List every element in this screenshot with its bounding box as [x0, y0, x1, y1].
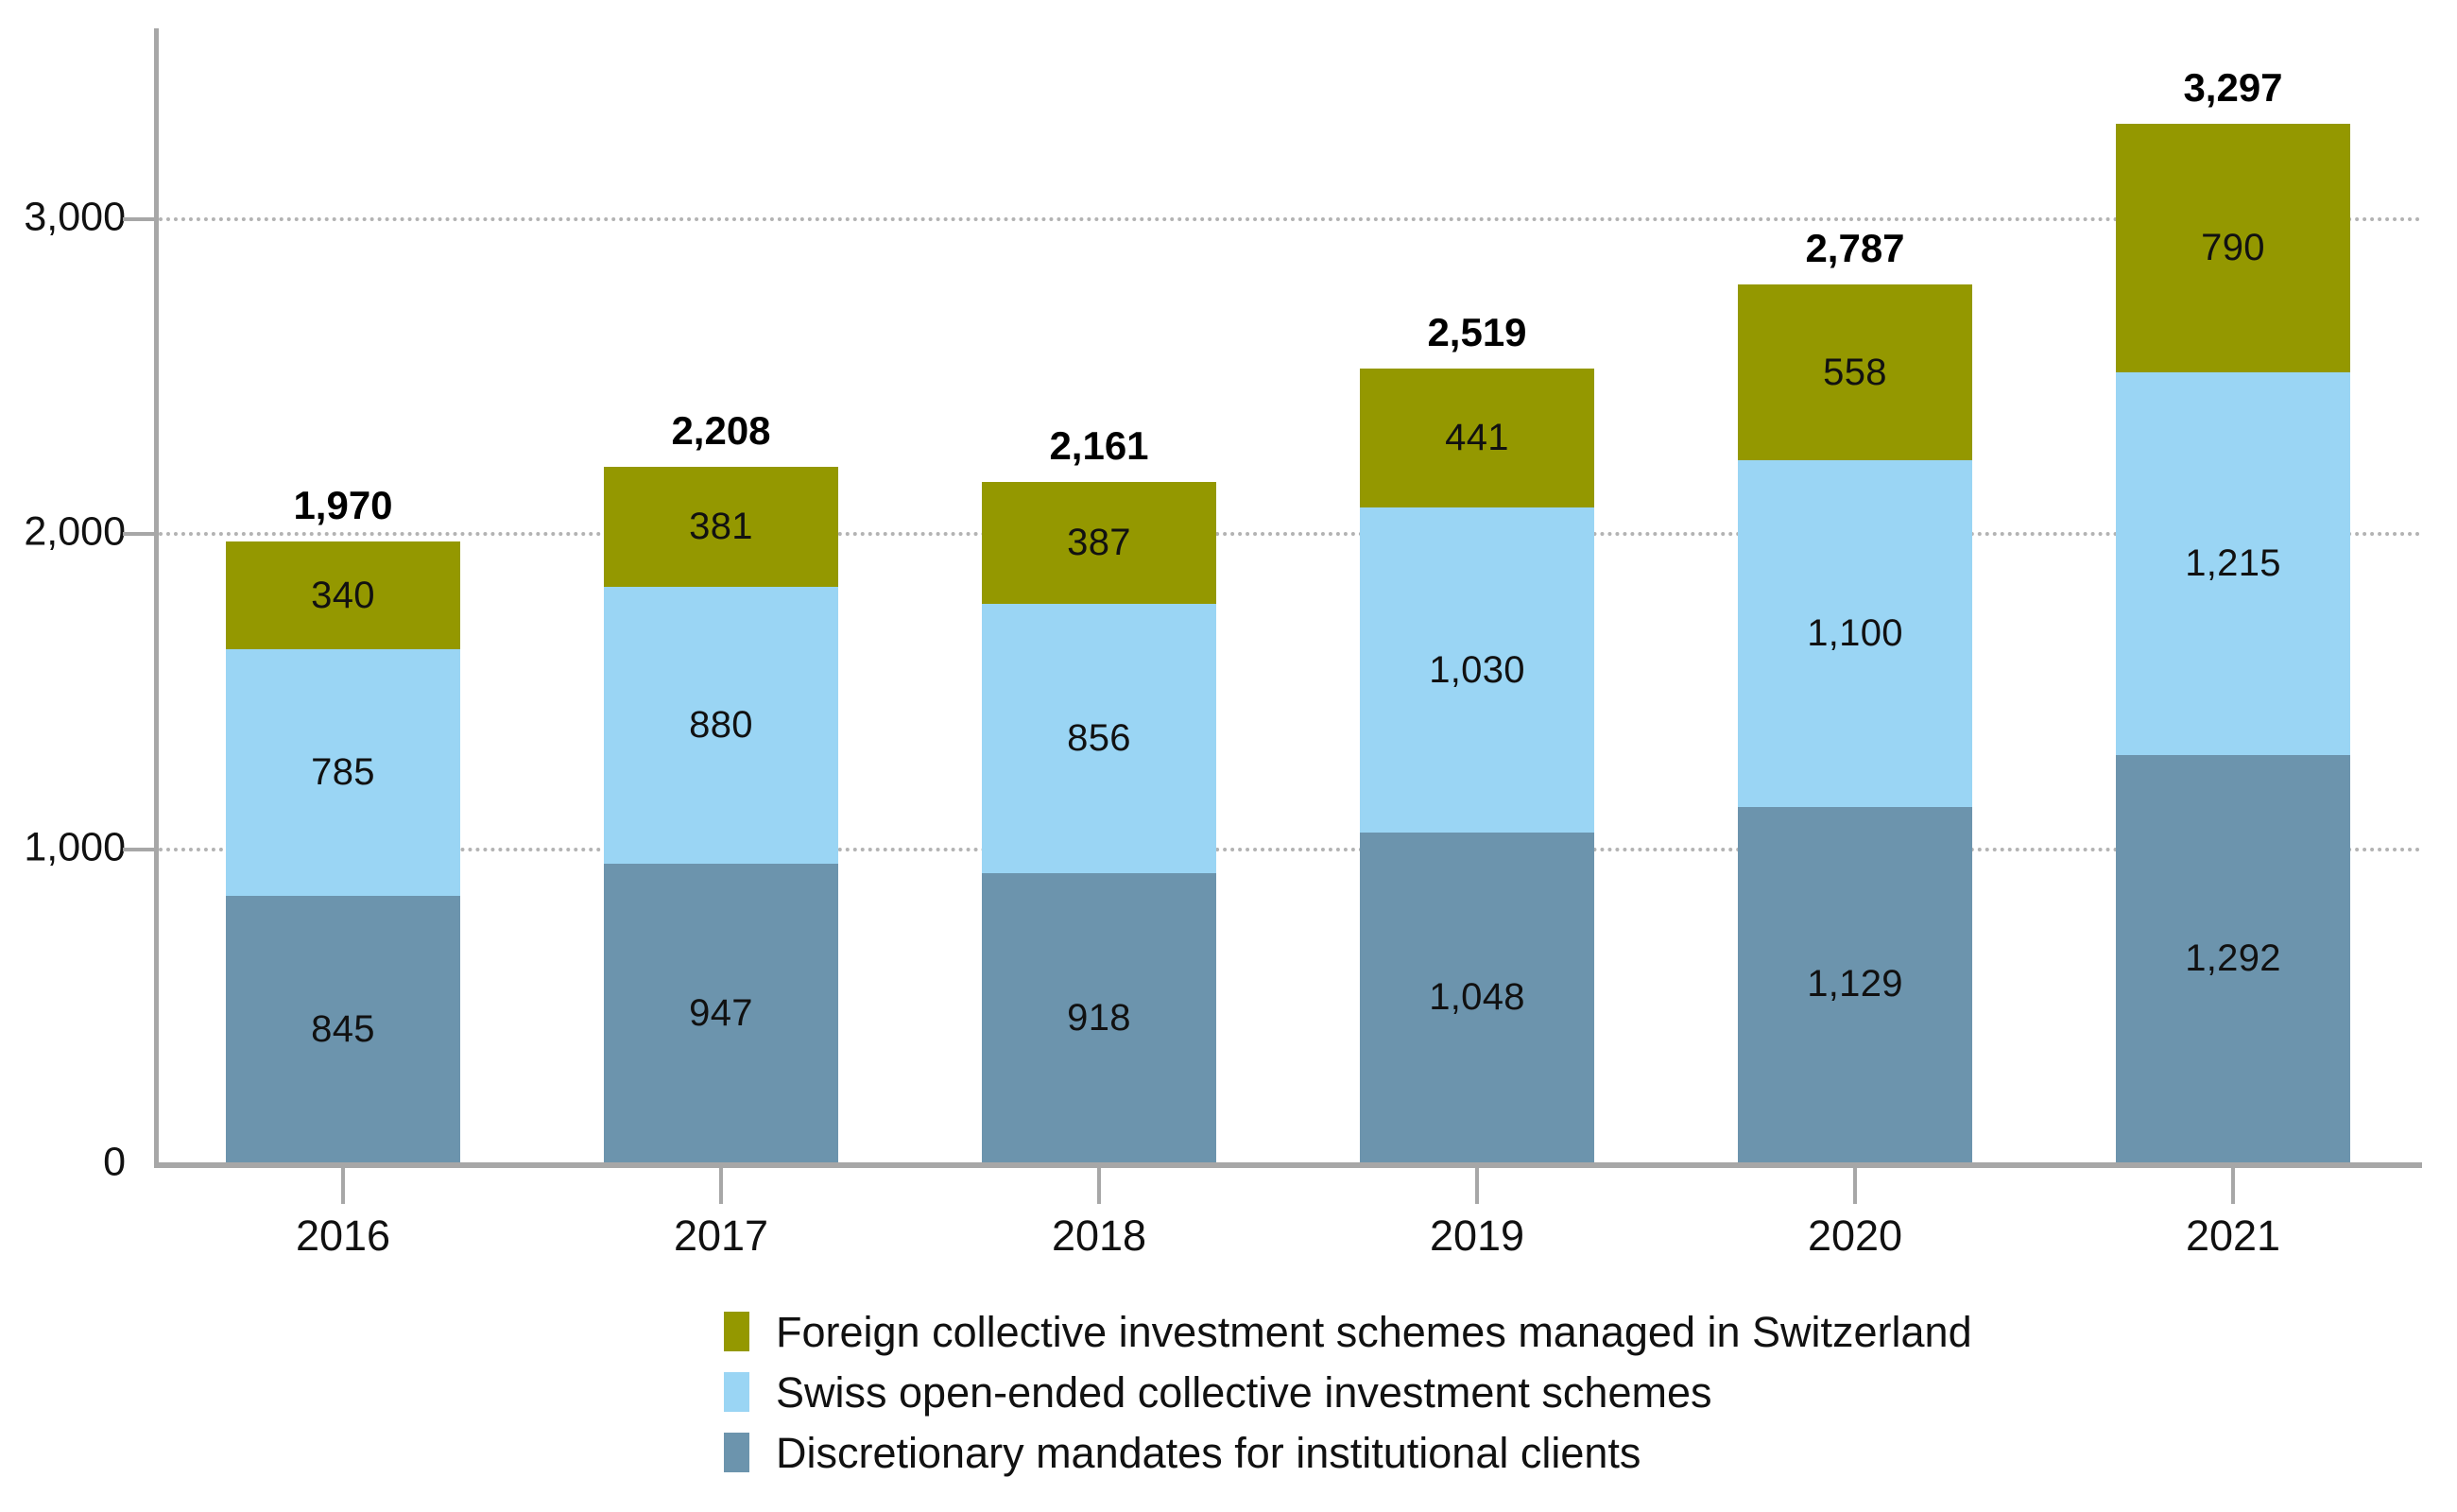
bar-segment-value: 558 — [1823, 352, 1887, 394]
bar-segment[interactable]: 1,292 — [2116, 755, 2350, 1162]
bar-total-label: 2,208 — [604, 408, 838, 454]
legend-color-swatch — [724, 1433, 749, 1472]
bar-segment[interactable]: 880 — [604, 587, 838, 864]
x-tick-label: 2016 — [296, 1211, 390, 1261]
bar-segment-value: 1,215 — [2185, 542, 2281, 585]
bar-stack: 1,0481,030441 — [1360, 369, 1594, 1162]
bar-segment[interactable]: 381 — [604, 467, 838, 587]
legend-label: Swiss open-ended collective investment s… — [776, 1371, 1711, 1414]
bar-segment[interactable]: 1,030 — [1360, 507, 1594, 832]
stacked-bar-chart: 01,0002,0003,000 8457853401,970947880381… — [0, 0, 2457, 1512]
legend-item[interactable]: Swiss open-ended collective investment s… — [724, 1363, 1952, 1421]
legend-label: Foreign collective investment schemes ma… — [776, 1311, 1972, 1353]
bar-segment[interactable]: 1,129 — [1738, 807, 1972, 1162]
bar-segment-value: 1,048 — [1429, 976, 1525, 1019]
bar-segment-value: 381 — [689, 506, 753, 548]
y-axis-labels: 01,0002,0003,000 — [0, 0, 154, 1140]
bar-stack: 845785340 — [226, 541, 460, 1162]
legend-item[interactable]: Discretionary mandates for institutional… — [724, 1423, 1952, 1482]
bar-segment[interactable]: 387 — [982, 482, 1216, 604]
bar-segment-value: 387 — [1067, 522, 1131, 564]
bar-segment[interactable]: 947 — [604, 864, 838, 1162]
y-tick-label: 0 — [103, 1143, 126, 1183]
x-tick-label: 2018 — [1052, 1211, 1146, 1261]
bars-layer: 8457853401,9709478803812,2089188563872,1… — [154, 28, 2422, 1162]
bar-segment[interactable]: 918 — [982, 873, 1216, 1162]
bar-total-label: 3,297 — [2116, 65, 2350, 111]
bar-segment[interactable]: 441 — [1360, 369, 1594, 507]
x-tick-mark — [341, 1168, 345, 1204]
bar-segment[interactable]: 1,100 — [1738, 460, 1972, 807]
bar-segment-value: 947 — [689, 992, 753, 1035]
x-tick-mark — [1475, 1168, 1479, 1204]
bar-group[interactable]: 1,1291,1005582,787 — [1738, 284, 1972, 1162]
bar-segment[interactable]: 790 — [2116, 124, 2350, 372]
bar-segment[interactable]: 785 — [226, 649, 460, 897]
x-tick-mark — [2231, 1168, 2235, 1204]
bar-stack: 918856387 — [982, 482, 1216, 1162]
y-tick-label: 1,000 — [24, 827, 126, 868]
legend-item[interactable]: Foreign collective investment schemes ma… — [724, 1302, 1952, 1361]
bar-segment-value: 880 — [689, 704, 753, 747]
chart-legend: Foreign collective investment schemes ma… — [724, 1302, 1952, 1484]
bar-segment-value: 441 — [1445, 417, 1509, 459]
bar-segment[interactable]: 340 — [226, 541, 460, 648]
x-tick-mark — [1097, 1168, 1101, 1204]
bar-segment-value: 1,100 — [1807, 612, 1903, 655]
bar-segment-value: 1,030 — [1429, 649, 1525, 692]
bar-segment[interactable]: 1,048 — [1360, 833, 1594, 1162]
bar-total-label: 2,161 — [982, 423, 1216, 469]
bar-segment-value: 785 — [311, 751, 375, 794]
bar-total-label: 2,787 — [1738, 226, 1972, 271]
x-axis: 201620172018201920202021 — [154, 1168, 2422, 1281]
bar-segment-value: 790 — [2201, 227, 2265, 269]
x-tick-label: 2017 — [674, 1211, 768, 1261]
bar-segment-value: 856 — [1067, 717, 1131, 760]
bar-total-label: 2,519 — [1360, 310, 1594, 355]
x-tick-label: 2021 — [2186, 1211, 2280, 1261]
bar-segment[interactable]: 845 — [226, 896, 460, 1162]
bar-segment-value: 340 — [311, 575, 375, 617]
bar-segment-value: 918 — [1067, 997, 1131, 1039]
x-tick-mark — [719, 1168, 723, 1204]
x-tick-label: 2020 — [1808, 1211, 1902, 1261]
bar-segment-value: 1,129 — [1807, 963, 1903, 1005]
bar-total-label: 1,970 — [226, 483, 460, 528]
legend-color-swatch — [724, 1312, 749, 1351]
bar-group[interactable]: 8457853401,970 — [226, 541, 460, 1162]
plot-area: 8457853401,9709478803812,2089188563872,1… — [154, 28, 2422, 1162]
bar-group[interactable]: 9188563872,161 — [982, 482, 1216, 1162]
bar-stack: 1,2921,215790 — [2116, 124, 2350, 1162]
y-tick-label: 2,000 — [24, 512, 126, 553]
legend-color-swatch — [724, 1372, 749, 1412]
bar-group[interactable]: 1,0481,0304412,519 — [1360, 369, 1594, 1162]
bar-segment-value: 845 — [311, 1008, 375, 1051]
legend-label: Discretionary mandates for institutional… — [776, 1432, 1641, 1474]
bar-segment-value: 1,292 — [2185, 937, 2281, 980]
bar-stack: 947880381 — [604, 467, 838, 1162]
bar-group[interactable]: 1,2921,2157903,297 — [2116, 124, 2350, 1162]
y-tick-label: 3,000 — [24, 198, 126, 238]
bar-segment[interactable]: 1,215 — [2116, 372, 2350, 755]
x-tick-mark — [1853, 1168, 1857, 1204]
bar-stack: 1,1291,100558 — [1738, 284, 1972, 1162]
x-tick-label: 2019 — [1430, 1211, 1524, 1261]
bar-segment[interactable]: 856 — [982, 604, 1216, 873]
bar-segment[interactable]: 558 — [1738, 284, 1972, 460]
bar-group[interactable]: 9478803812,208 — [604, 467, 838, 1162]
